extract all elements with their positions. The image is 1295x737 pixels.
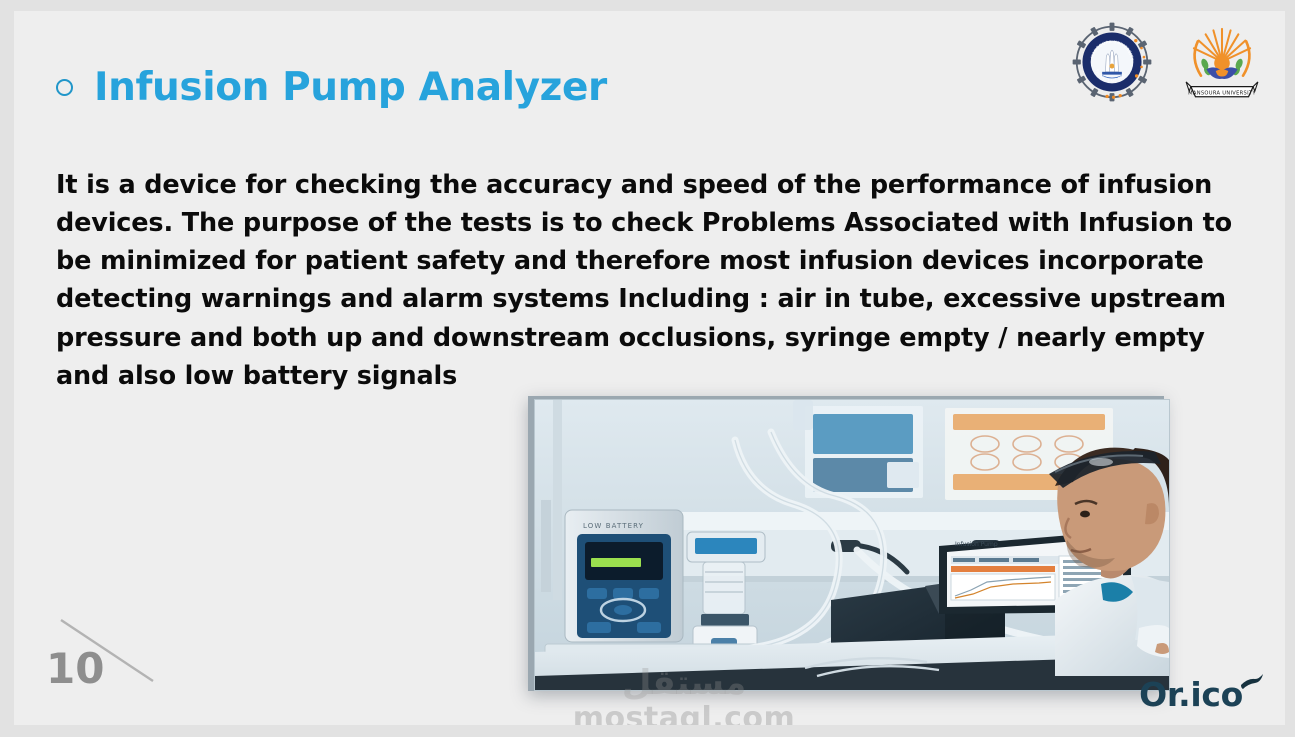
bird-icon	[1239, 672, 1265, 692]
svg-text:MANSOURA UNIVERSITY: MANSOURA UNIVERSITY	[1188, 90, 1256, 96]
svg-text:LOW BATTERY: LOW BATTERY	[583, 522, 644, 530]
mansoura-faculty-engineering-logo: MANSOURA UNIVERSITY FACULTY OF ENG.	[1071, 21, 1153, 108]
figure-container: LOW BATTERY	[520, 386, 1170, 694]
brand-name: Or.ico	[1139, 678, 1243, 711]
svg-text:Infusion Pump: Infusion Pump	[955, 541, 998, 548]
logo-strip: MANSOURA UNIVERSITY FACULTY OF ENG.	[1071, 21, 1261, 108]
brand-mark[interactable]: Or.ico	[1139, 678, 1265, 711]
mansoura-university-logo: MANSOURA UNIVERSITY	[1183, 21, 1261, 108]
infusion-pump-analyzer-photo: LOW BATTERY	[534, 399, 1170, 691]
slide-heading: Infusion Pump Analyzer	[56, 68, 607, 107]
hollow-circle-icon	[56, 79, 73, 96]
sun-wheat-emblem-icon: MANSOURA UNIVERSITY	[1183, 21, 1261, 103]
page-number-group: 10	[32, 611, 162, 701]
gear-emblem-icon: MANSOURA UNIVERSITY FACULTY OF ENG.	[1071, 21, 1153, 103]
body-paragraph: It is a device for checking the accuracy…	[56, 166, 1261, 396]
slide-canvas: Infusion Pump Analyzer	[14, 11, 1285, 725]
page-number: 10	[46, 648, 104, 690]
page-title: Infusion Pump Analyzer	[94, 68, 607, 107]
watermark-domain-text: mostaql.com	[554, 700, 814, 725]
